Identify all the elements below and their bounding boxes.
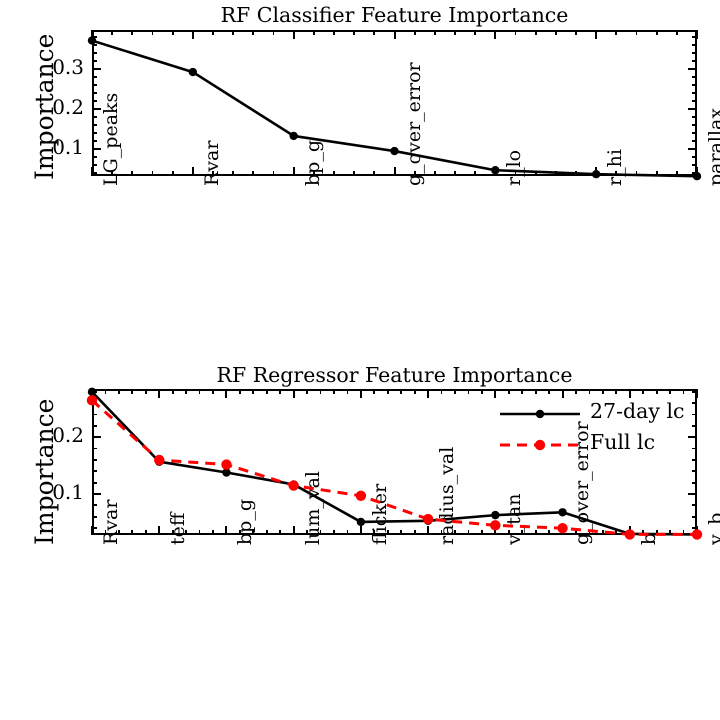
data-point: [557, 523, 567, 533]
data-point: [692, 529, 702, 539]
figure-canvas: RF Classifier Feature Importance Importa…: [0, 0, 720, 720]
data-point: [558, 508, 566, 516]
data-point: [221, 459, 231, 469]
legend-label: Full lc: [590, 430, 655, 454]
legend-label: 27-day lc: [590, 399, 685, 423]
data-point: [592, 170, 600, 178]
data-point: [625, 529, 635, 539]
data-point: [356, 491, 366, 501]
data-point: [289, 132, 297, 140]
data-point: [154, 455, 164, 465]
data-point: [390, 147, 398, 155]
data-point: [189, 68, 197, 76]
rf-classifier-panel: RF Classifier Feature Importance Importa…: [0, 0, 720, 355]
data-point: [490, 520, 500, 530]
series-classifier: [0, 0, 720, 355]
data-point: [87, 395, 97, 405]
series-line: [92, 41, 697, 177]
legend-swatch: [498, 401, 582, 427]
data-point: [693, 172, 701, 180]
data-point: [88, 388, 96, 396]
legend-swatch: [498, 432, 582, 458]
data-point: [288, 480, 298, 490]
rf-regressor-panel: RF Regressor Feature Importance Importan…: [0, 355, 720, 720]
data-point: [491, 511, 499, 519]
data-point: [423, 514, 433, 524]
data-point: [357, 518, 365, 526]
data-point: [491, 166, 499, 174]
data-point: [88, 36, 96, 44]
